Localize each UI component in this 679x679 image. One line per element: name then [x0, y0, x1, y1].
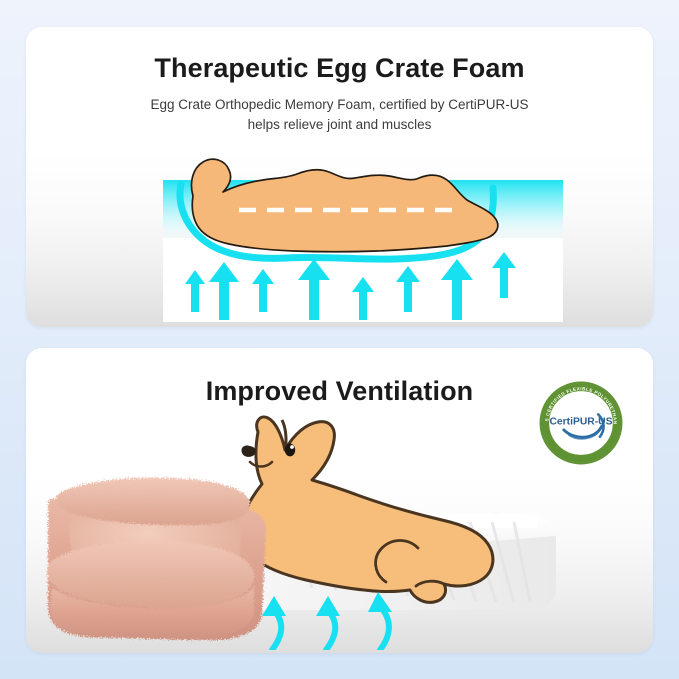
panel-subtitle-therapeutic-foam: Egg Crate Orthopedic Memory Foam, certif…: [26, 95, 653, 135]
dog-eye: [285, 444, 295, 457]
dog-bed-ventilation-illustration: [44, 410, 604, 650]
feature-card-therapeutic-foam: Therapeutic Egg Crate Foam Egg Crate Ort…: [26, 27, 653, 327]
dog-eye-highlight: [290, 445, 294, 449]
dog-bed: [47, 478, 266, 640]
foam-compression-illustration: [163, 152, 563, 322]
subtitle-line-2: helps relieve joint and muscles: [26, 115, 653, 135]
dog-nose: [241, 445, 255, 456]
subtitle-line-1: Egg Crate Orthopedic Memory Foam, certif…: [26, 95, 653, 115]
foam-blob: [191, 159, 497, 252]
feature-card-improved-ventilation: Improved Ventilation CONTAINS CERTIFIED …: [26, 348, 653, 653]
panel-title-therapeutic-foam: Therapeutic Egg Crate Foam: [26, 53, 653, 84]
product-feature-image: Therapeutic Egg Crate Foam Egg Crate Ort…: [0, 0, 679, 679]
